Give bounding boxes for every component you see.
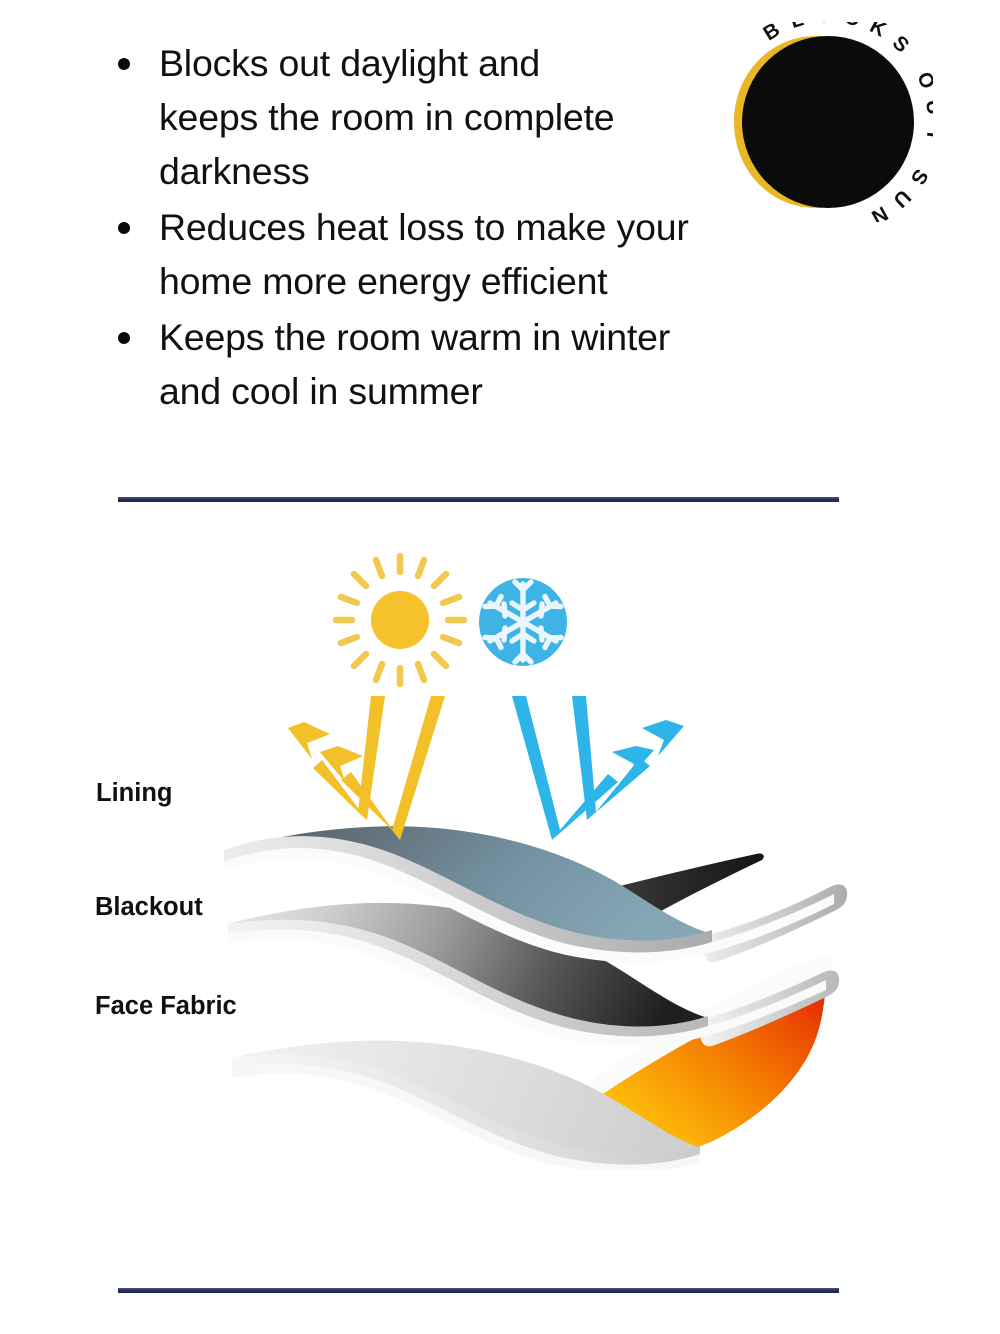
badge-letter: O bbox=[912, 69, 933, 93]
badge-letter: B bbox=[759, 22, 784, 45]
curtain-layer-diagram bbox=[0, 520, 1000, 1170]
list-item: Keeps the room warm in winter and cool i… bbox=[118, 310, 798, 418]
feature-list: Blocks out daylight and keeps the room i… bbox=[118, 36, 798, 420]
bullet-point-icon bbox=[118, 58, 130, 70]
badge-letter: S bbox=[888, 31, 914, 57]
divider-top bbox=[118, 497, 839, 502]
badge-letter: T bbox=[921, 127, 933, 143]
feature-text: Keeps the room warm in winter and cool i… bbox=[159, 310, 689, 418]
blocks-out-sun-badge: B L O C K S O U T S U N bbox=[718, 22, 933, 222]
heat-reflection-arrows bbox=[288, 696, 445, 840]
cold-reflection-arrows bbox=[512, 696, 684, 840]
bullet-point-icon bbox=[118, 332, 130, 344]
badge-letter: K bbox=[866, 22, 890, 42]
list-item: Blocks out daylight and keeps the room i… bbox=[118, 36, 798, 198]
badge-letter: U bbox=[889, 185, 916, 212]
snowflake-icon bbox=[479, 578, 567, 666]
eclipse-disc-icon bbox=[742, 36, 914, 208]
badge-letter: L bbox=[788, 22, 807, 33]
sun-icon bbox=[336, 556, 464, 684]
badge-letter: C bbox=[842, 22, 862, 31]
layer-label-face-fabric: Face Fabric bbox=[95, 992, 237, 1021]
badge-letter: S bbox=[906, 165, 933, 189]
bullet-point-icon bbox=[118, 222, 130, 234]
layer-label-blackout: Blackout bbox=[95, 893, 203, 922]
badge-letter: O bbox=[816, 22, 833, 27]
badge-letter: N bbox=[868, 201, 892, 222]
divider-bottom bbox=[118, 1288, 839, 1293]
layer-label-lining: Lining bbox=[96, 779, 172, 808]
badge-letter: U bbox=[921, 98, 933, 116]
feature-text: Reduces heat loss to make your home more… bbox=[159, 200, 784, 308]
list-item: Reduces heat loss to make your home more… bbox=[118, 200, 798, 308]
feature-text: Blocks out daylight and keeps the room i… bbox=[159, 36, 629, 198]
